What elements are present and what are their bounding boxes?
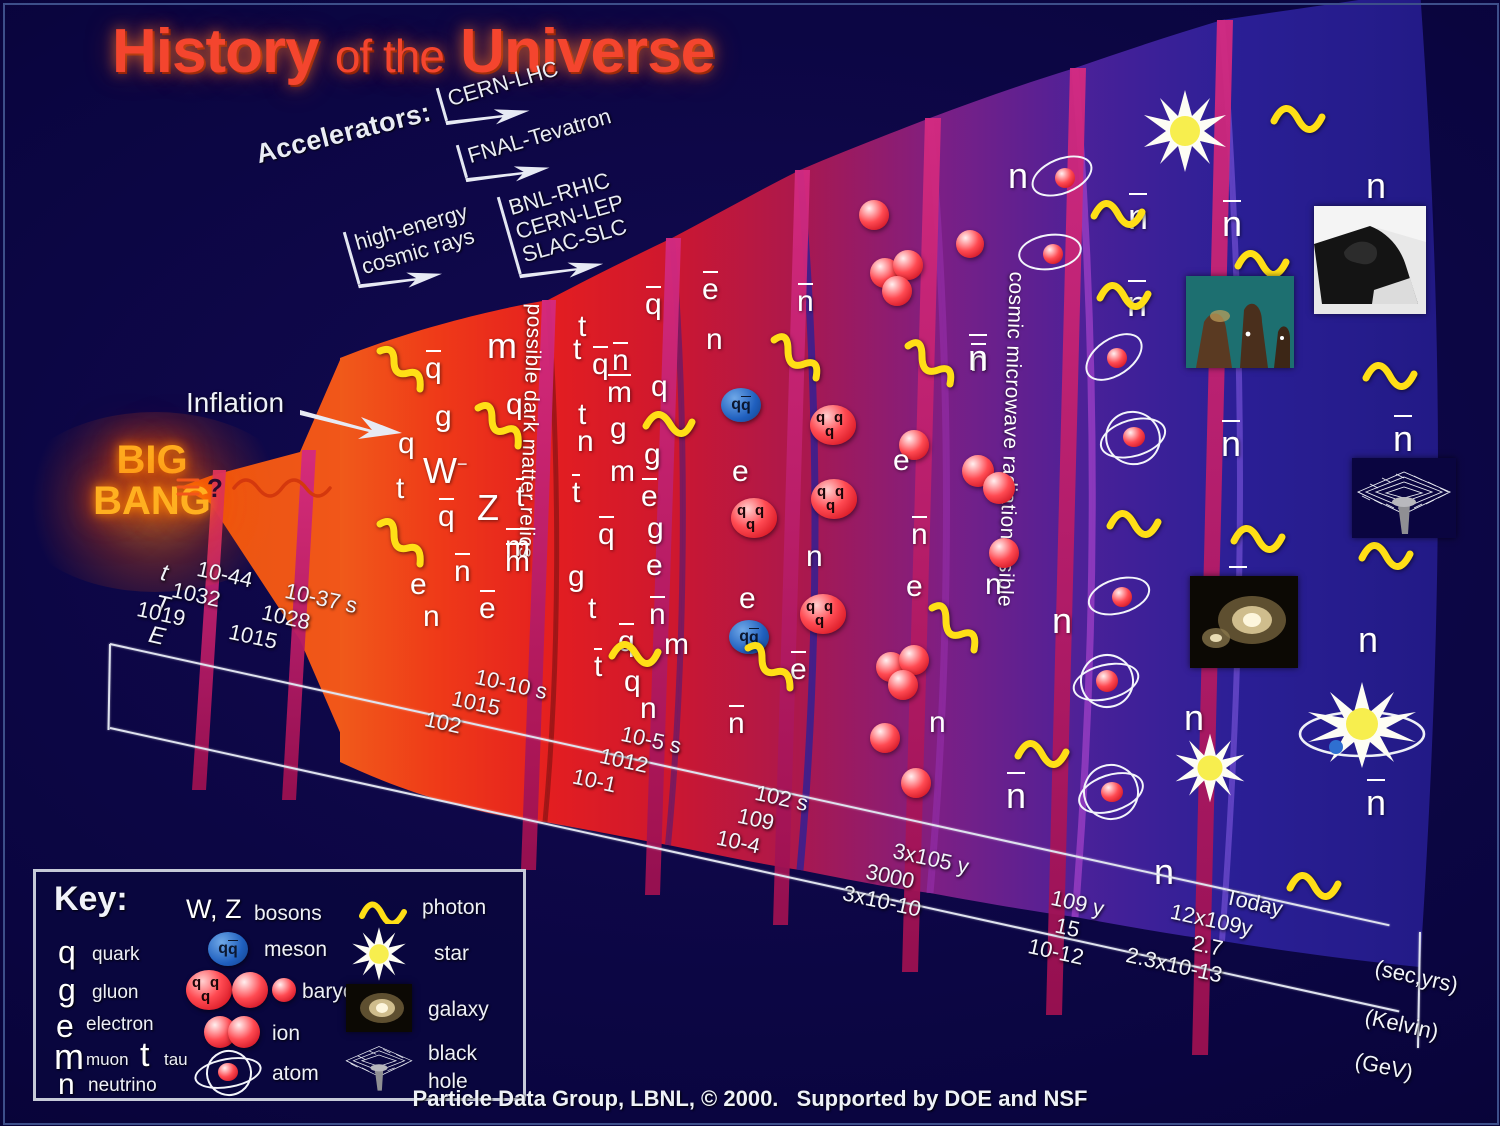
- key-label-ion: ion: [272, 1022, 300, 1046]
- galaxy-image: [1190, 576, 1298, 668]
- key-galaxy-icon: [346, 984, 412, 1032]
- particle-antineutrino: n: [797, 285, 814, 319]
- inflation-label: Inflation: [186, 387, 284, 419]
- particle-tau: t: [588, 592, 596, 626]
- particle-gluon: g: [568, 560, 585, 594]
- key-baryon-icon: qqq: [186, 970, 232, 1010]
- particle-gluon: g: [647, 512, 664, 546]
- photon-icon: [1012, 728, 1074, 784]
- key-star-icon: [348, 926, 410, 987]
- key-symbol-bosons: W, Z: [186, 894, 242, 925]
- particle-antimuon: m: [607, 376, 632, 410]
- inflation-wave-icon: [230, 470, 350, 504]
- photon-icon: [372, 345, 428, 399]
- baryon-icon: qqq: [800, 594, 846, 634]
- key-label-star: star: [434, 942, 469, 966]
- key-meson-icon: qq: [208, 932, 248, 966]
- baryon-icon: qqq: [811, 479, 857, 519]
- proton-icon: [859, 200, 889, 230]
- proton-icon: [870, 723, 900, 753]
- photon-icon: [924, 600, 982, 658]
- photon-icon: [1360, 350, 1422, 406]
- particle-z-boson: Z: [477, 487, 499, 529]
- key-symbol-gluon: g: [58, 972, 76, 1009]
- title-word-of-the: of the: [335, 30, 444, 82]
- helium-nucleus-icon: [888, 670, 918, 700]
- particle-antineutrino: n: [728, 707, 745, 741]
- key-ion-icon: [228, 1016, 260, 1048]
- particle-antineutrino: n: [911, 518, 928, 552]
- key-label-electron: electron: [86, 1014, 154, 1036]
- particle-tau: t: [396, 472, 404, 506]
- particle-neutrino: n: [423, 600, 440, 634]
- deuteron-icon: [983, 472, 1015, 504]
- particle-electron: e: [893, 444, 910, 478]
- big-bang-question-mark: ?: [207, 473, 223, 504]
- photon-icon: [766, 330, 824, 386]
- particle-antitau: t: [594, 650, 602, 684]
- particle-electron: e: [906, 570, 923, 604]
- key-label-atom: atom: [272, 1062, 319, 1086]
- big-bang-line2: BANG: [42, 481, 262, 522]
- particle-antielectron: e: [702, 273, 719, 307]
- particle-electron: e: [739, 582, 756, 616]
- key-symbol-quark: q: [58, 934, 76, 971]
- particle-neutrino: n: [806, 540, 823, 574]
- key-legend-box: Key: q quark g gluon e electron m muon t…: [33, 869, 526, 1101]
- key-label-black: black: [428, 1042, 477, 1066]
- key-label-galaxy: galaxy: [428, 998, 489, 1022]
- photon-icon: [900, 336, 958, 392]
- particle-muon: m: [664, 628, 689, 662]
- particle-neutrino: n: [1008, 155, 1028, 197]
- atom-icon: [1087, 570, 1153, 620]
- atom-icon: [1082, 330, 1148, 382]
- photon-icon: [1268, 95, 1330, 149]
- particle-gluon: g: [610, 412, 627, 446]
- big-bang-line1: BIG: [42, 440, 262, 481]
- photon-icon: [606, 628, 664, 682]
- atom-icon: [1018, 228, 1084, 276]
- proton-icon: [956, 230, 984, 258]
- particle-antiquark: q: [645, 288, 662, 322]
- footer-credit: Particle Data Group, LBNL, © 2000. Suppo…: [0, 1086, 1500, 1112]
- footer-credit-text: Particle Data Group, LBNL, © 2000.: [413, 1086, 779, 1111]
- key-label-gluon: gluon: [92, 982, 139, 1004]
- key-photon-icon: [358, 892, 414, 929]
- particle-antitau: t: [516, 480, 524, 514]
- particle-antimuon: m: [505, 545, 530, 579]
- particle-neutrino: n: [1052, 600, 1072, 642]
- particle-muon: m: [610, 455, 635, 489]
- photon-icon: [1088, 190, 1150, 244]
- particle-tau: t: [573, 333, 581, 367]
- particle-neutrino: n: [577, 425, 594, 459]
- title-word-history: History: [112, 17, 319, 86]
- photon-icon: [372, 516, 430, 574]
- key-title: Key:: [54, 880, 128, 919]
- particle-neutrino: n: [1366, 165, 1386, 207]
- footer-support-text: Supported by DOE and NSF: [797, 1086, 1088, 1111]
- particle-antineutrino: n: [649, 598, 666, 632]
- key-label-meson: meson: [264, 938, 327, 962]
- thinker-image: [1314, 206, 1426, 314]
- key-baryon-sphere-icon: [232, 972, 268, 1008]
- particle-antineutrino: n: [1393, 418, 1413, 460]
- particle-quark: q: [398, 427, 415, 461]
- black-hole-image: [1352, 458, 1456, 538]
- proton-icon: [901, 768, 931, 798]
- particle-neutrino: n: [929, 706, 946, 740]
- photon-icon: [1104, 500, 1166, 554]
- atom-icon: [1068, 650, 1142, 710]
- particle-electron: e: [646, 549, 663, 583]
- particle-gluon: g: [435, 400, 452, 434]
- key-baryon-dot-icon: [272, 978, 296, 1002]
- particle-antineutrino: n: [454, 555, 471, 589]
- particle-antineutrino: n: [1366, 782, 1386, 824]
- particle-antineutrino: n: [1221, 423, 1241, 465]
- photon-icon: [1094, 272, 1156, 326]
- helium-nucleus-icon: [882, 276, 912, 306]
- nebula-image: [1186, 276, 1294, 368]
- particle-w-boson: W−: [423, 450, 468, 492]
- particle-neutrino: n: [985, 568, 1002, 602]
- baryon-icon: qqq: [810, 405, 856, 445]
- big-bang-rays-icon: [176, 476, 202, 500]
- particle-antitau: t: [572, 476, 580, 510]
- particle-quark: q: [651, 370, 668, 404]
- photon-icon: [740, 640, 798, 694]
- particle-neutrino: n: [706, 323, 723, 357]
- photon-icon: [1356, 530, 1418, 586]
- particle-antineutrino: n: [968, 337, 988, 379]
- key-label-tau: tau: [164, 1050, 188, 1070]
- particle-antielectron: e: [479, 592, 496, 626]
- proton-icon: [989, 538, 1019, 568]
- particle-electron: e: [732, 455, 749, 489]
- particle-neutrino: n: [1154, 851, 1174, 893]
- particle-neutrino: n: [640, 692, 657, 726]
- particle-antiquark: q: [438, 500, 455, 534]
- page-title: History of the Universe: [112, 16, 714, 87]
- photon-icon: [470, 400, 528, 456]
- particle-neutrino: n: [1358, 619, 1378, 661]
- big-bang-label: BIG BANG: [42, 440, 262, 560]
- solar-system-icon: [1292, 672, 1432, 773]
- key-symbol-tau: t: [140, 1036, 149, 1075]
- atom-icon: [1095, 405, 1169, 467]
- particle-antineutrino: n: [1222, 203, 1242, 245]
- particle-antineutrino: n: [612, 344, 629, 378]
- key-label-bosons: bosons: [254, 902, 322, 926]
- meson-icon: qq: [721, 388, 761, 422]
- atom-icon: [1030, 152, 1096, 200]
- photon-icon: [1228, 515, 1290, 569]
- key-label-quark: quark: [92, 944, 140, 966]
- star-icon: [1174, 732, 1246, 804]
- particle-antielectron: e: [641, 480, 658, 514]
- key-label-muon: muon: [86, 1050, 129, 1070]
- axis-tick-column: 3x105 y 3000 3x10-10: [879, 838, 971, 931]
- star-icon: [1142, 88, 1228, 174]
- particle-antiquark: q: [598, 518, 615, 552]
- atom-icon: [1073, 760, 1147, 822]
- poster-canvas: History of the Universe Accelerators: CE…: [0, 0, 1500, 1126]
- key-label-photon: photon: [422, 896, 486, 920]
- particle-muon: m: [487, 325, 517, 367]
- photon-icon: [640, 400, 696, 450]
- baryon-icon: qqq: [731, 498, 777, 538]
